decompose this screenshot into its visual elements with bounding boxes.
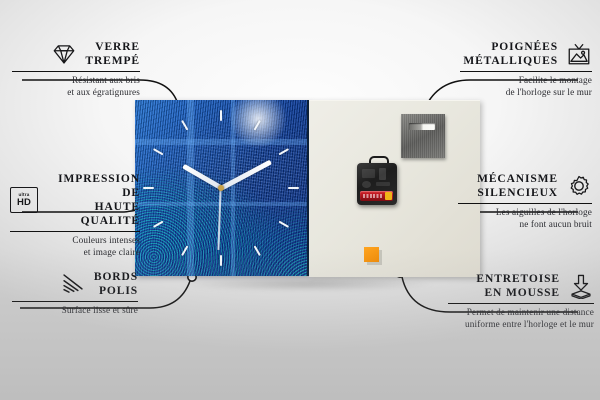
feature-subtitle: Facilite le montage de l'horloge sur le … <box>460 75 592 98</box>
title-underline <box>12 71 140 72</box>
feature-title-line2: EN MOUSSE <box>476 286 560 300</box>
feature-title-line1: ENTRETOISE <box>476 272 560 286</box>
feature-title-line2: SILENCIEUX <box>477 186 558 200</box>
feature-subtitle: Couleurs intenses et image claire <box>10 235 140 258</box>
battery-label <box>363 194 383 198</box>
feature-title-line2: TREMPÉ <box>85 54 140 68</box>
foam-spacer <box>364 247 379 262</box>
feature-verre-trempe: VERRE TREMPÉ Résistant aux bris et aux é… <box>12 40 140 98</box>
hour-tick <box>220 110 222 188</box>
infographic-canvas: VERRE TREMPÉ Résistant aux bris et aux é… <box>0 0 600 400</box>
feature-title-line2: MÉTALLIQUES <box>463 54 558 68</box>
ultra-hd-icon-big-label: HD <box>17 198 31 208</box>
title-underline <box>448 303 594 304</box>
mechanism-housing <box>357 163 397 205</box>
clock-center-cap <box>218 185 224 191</box>
clock-face <box>135 100 307 276</box>
feature-subtitle: Les aiguilles de l'horloge ne font aucun… <box>458 207 592 230</box>
title-underline <box>460 71 592 72</box>
clock-mechanism <box>357 163 397 205</box>
feature-subtitle: Permet de maintenir une distance uniform… <box>448 307 594 330</box>
feature-title-line1: BORDS <box>94 270 138 284</box>
hour-tick <box>221 187 299 189</box>
mechanism-detail <box>362 181 371 188</box>
title-underline <box>458 203 592 204</box>
metal-hanger-plate <box>401 114 445 158</box>
feature-bords-polis: BORDS POLIS Surface lisse et sûre <box>12 270 138 317</box>
mechanism-detail <box>362 169 375 178</box>
mechanism-detail <box>379 168 386 180</box>
polished-edges-icon <box>60 271 86 297</box>
battery-positive-terminal <box>385 192 392 200</box>
feature-title-line1: VERRE <box>85 40 140 54</box>
feature-impression-haute-qualite: ultra HD IMPRESSION DE HAUTE QUALITÉ Cou… <box>10 172 140 258</box>
feature-title-line1: IMPRESSION DE <box>46 172 140 200</box>
feature-title-line1: MÉCANISME <box>477 172 558 186</box>
feature-title-line1: POIGNÉES <box>463 40 558 54</box>
product-shadow <box>129 276 485 296</box>
product-image <box>135 100 480 290</box>
diamond-icon <box>51 41 77 67</box>
feature-mecanisme-silencieux: MÉCANISME SILENCIEUX Les aiguilles de l'… <box>458 172 592 230</box>
picture-hanger-icon <box>566 41 592 67</box>
feature-title-line2: HAUTE QUALITÉ <box>46 200 140 228</box>
title-underline <box>12 301 138 302</box>
clock-back-panel <box>309 100 480 277</box>
feature-title-line2: POLIS <box>94 284 138 298</box>
mechanism-detail <box>376 182 390 186</box>
feature-poignees-metalliques: POIGNÉES MÉTALLIQUES Facilite le montage… <box>460 40 592 98</box>
feature-subtitle: Surface lisse et sûre <box>12 305 138 317</box>
title-underline <box>10 231 140 232</box>
feature-entretoise-en-mousse: ENTRETOISE EN MOUSSE Permet de maintenir… <box>448 272 594 330</box>
hanger-keyhole-slot <box>409 123 435 130</box>
clock-front-panel <box>135 100 309 276</box>
gear-icon <box>566 173 592 199</box>
foam-spacer-arrow-icon <box>568 273 594 299</box>
feature-subtitle: Résistant aux bris et aux égratignures <box>12 75 140 98</box>
battery <box>360 191 393 201</box>
hour-tick <box>143 187 221 189</box>
ultra-hd-icon: ultra HD <box>10 187 38 213</box>
